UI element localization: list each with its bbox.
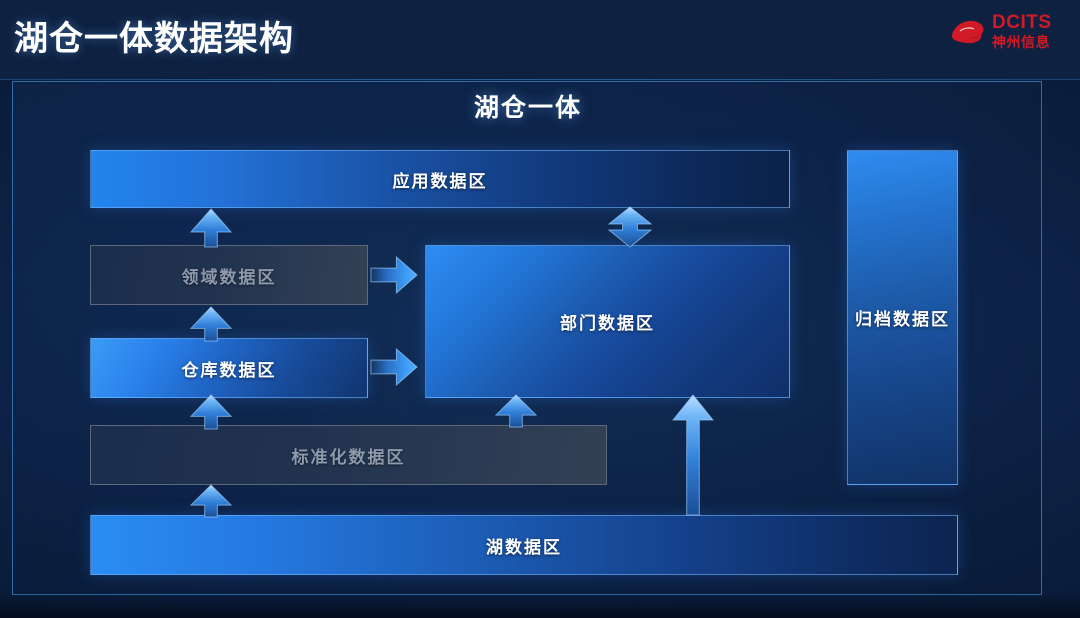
company-logo: DCITS 神州信息: [948, 9, 1068, 55]
logo-english-text: DCITS: [992, 13, 1068, 32]
panel-title: 湖仓一体: [13, 88, 1043, 124]
zone-box-app[interactable]: 应用数据区: [90, 150, 790, 208]
slide-header: 湖仓一体数据架构 DCITS 神州信息: [0, 0, 1080, 80]
flow-arrow-domain-to-app: [190, 208, 232, 248]
zone-label-domain: 领域数据区: [182, 263, 277, 288]
header-divider: [0, 79, 1080, 80]
logo-chinese-text: 神州信息: [992, 34, 1068, 51]
page-title: 湖仓一体数据架构: [14, 11, 294, 60]
flow-arrow-warehouse-to-dept: [370, 348, 418, 386]
zone-label-standard: 标准化数据区: [292, 443, 406, 468]
zone-label-dept: 部门数据区: [560, 309, 655, 334]
flow-arrow-lake-to-dept-long: [672, 394, 714, 516]
zone-box-warehouse[interactable]: 仓库数据区: [90, 338, 368, 398]
zone-box-archive[interactable]: 归档数据区: [847, 150, 958, 485]
flow-arrow-standard-to-dept: [495, 394, 537, 428]
flow-arrow-dept-to-app: [608, 206, 652, 248]
zone-label-archive: 归档数据区: [855, 305, 950, 330]
zone-label-warehouse: 仓库数据区: [182, 356, 277, 381]
zone-box-standard[interactable]: 标准化数据区: [90, 425, 607, 485]
zone-label-app: 应用数据区: [393, 167, 488, 192]
bottom-vignette: [0, 592, 1080, 618]
dcits-swirl-icon: [948, 15, 988, 49]
zone-label-lake: 湖数据区: [486, 533, 562, 558]
flow-arrow-lake-to-standard: [190, 484, 232, 518]
flow-arrow-domain-to-dept: [370, 256, 418, 294]
zone-box-lake[interactable]: 湖数据区: [90, 515, 958, 575]
zone-box-domain[interactable]: 领域数据区: [90, 245, 368, 305]
slide-canvas: 湖仓一体数据架构 DCITS 神州信息 湖仓一体 应用数据区领域数据区部门数据区…: [0, 0, 1080, 618]
flow-arrow-standard-to-warehouse: [190, 394, 232, 430]
flow-arrow-warehouse-to-domain: [190, 306, 232, 342]
logo-text: DCITS 神州信息: [992, 13, 1068, 51]
zone-box-dept[interactable]: 部门数据区: [425, 245, 790, 398]
